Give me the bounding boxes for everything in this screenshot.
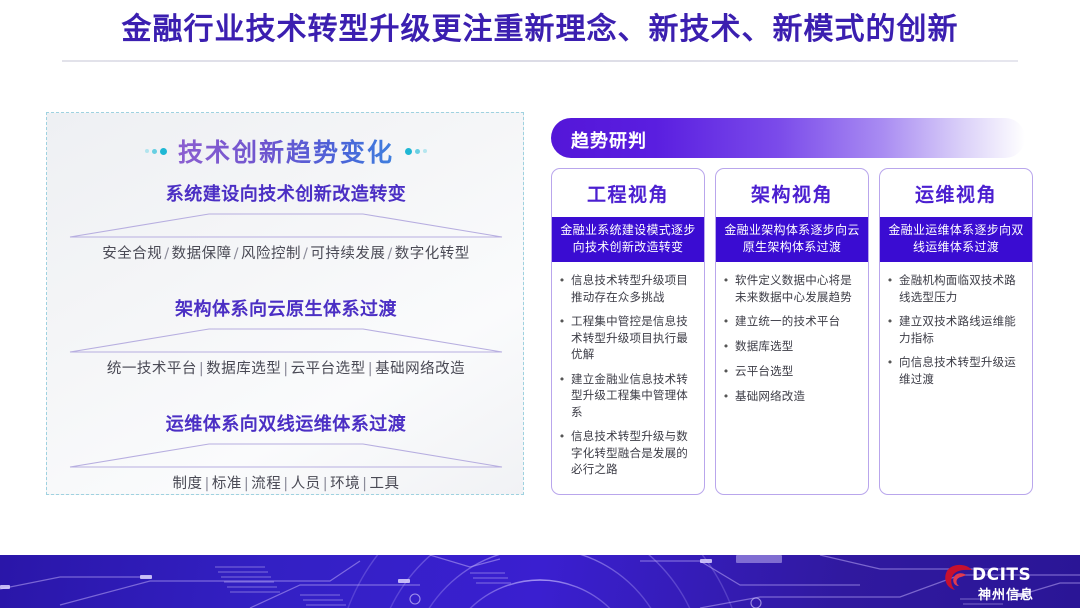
trend-item: 人员 — [291, 476, 321, 492]
trend-item: 统一技术平台 — [107, 361, 197, 377]
item-separator: | — [197, 361, 206, 377]
list-item: • 云平台选型 — [722, 363, 860, 380]
logo-text-en: DCITS — [972, 565, 1031, 585]
card-title: 工程视角 — [552, 169, 704, 217]
bullet-text: 软件定义数据中心将是未来数据中心发展趋势 — [735, 272, 860, 305]
trend-items: 安全合规/数据保障/风险控制/可持续发展/数字化转型 — [47, 244, 525, 264]
bullet-dot-icon: • — [722, 338, 730, 355]
logo-text-cn: 神州信息 — [978, 584, 1034, 603]
trend-heading: 运维体系向双线运维体系过渡 — [47, 413, 525, 437]
trend-item: 数字化转型 — [395, 246, 470, 262]
card-bullet-list: • 软件定义数据中心将是未来数据中心发展趋势 • 建立统一的技术平台 • 数据库… — [716, 262, 868, 421]
trend-group: 架构体系向云原生体系过渡 统一技术平台|数据库选型|云平台选型|基础网络改造 — [47, 298, 525, 379]
item-separator: | — [281, 361, 290, 377]
trend-heading: 架构体系向云原生体系过渡 — [47, 298, 525, 322]
list-item: • 建立双技术路线运维能力指标 — [886, 313, 1024, 346]
bullet-text: 信息技术转型升级与数字化转型融合是发展的必行之路 — [571, 428, 696, 478]
trend-item: 基础网络改造 — [375, 361, 465, 377]
three-dots-icon — [405, 148, 427, 155]
list-item: • 信息技术转型升级与数字化转型融合是发展的必行之路 — [558, 428, 696, 478]
perspective-card[interactable]: 工程视角 金融业系统建设模式逐步向技术创新改造转变 • 信息技术转型升级项目推动… — [551, 168, 705, 495]
bullet-text: 建立双技术路线运维能力指标 — [899, 313, 1024, 346]
trend-item: 环境 — [330, 476, 360, 492]
bullet-dot-icon: • — [722, 363, 730, 380]
perspective-card[interactable]: 架构视角 金融业架构体系逐步向云原生架构体系过渡 • 软件定义数据中心将是未来数… — [715, 168, 869, 495]
trend-item: 流程 — [251, 476, 281, 492]
bullet-text: 建立金融业信息技术转型升级工程集中管理体系 — [571, 371, 696, 421]
trend-change-panel: 技术创新趋势变化 系统建设向技术创新改造转变 安全合规/数据保障/风险控制/可持… — [46, 112, 524, 495]
trend-item: 风险控制 — [241, 246, 301, 262]
trend-judgement-panel: 趋势研判 工程视角 金融业系统建设模式逐步向技术创新改造转变 • 信息技术转型升… — [551, 112, 1033, 495]
card-band: 金融业系统建设模式逐步向技术创新改造转变 — [552, 217, 704, 262]
bullet-dot-icon: • — [886, 354, 894, 387]
title-divider — [62, 60, 1018, 62]
bullet-text: 工程集中管控是信息技术转型升级项目执行最优解 — [571, 313, 696, 363]
list-item: • 向信息技术转型升级运维过渡 — [886, 354, 1024, 387]
list-item: • 数据库选型 — [722, 338, 860, 355]
trapezoid-connector — [69, 213, 503, 239]
trend-item: 云平台选型 — [291, 361, 366, 377]
card-bullet-list: • 信息技术转型升级项目推动存在众多挑战 • 工程集中管控是信息技术转型升级项目… — [552, 262, 704, 494]
bullet-text: 建立统一的技术平台 — [735, 313, 860, 330]
page-header: 金融行业技术转型升级更注重新理念、新技术、新模式的创新 — [0, 0, 1080, 68]
trapezoid-connector — [69, 328, 503, 354]
card-band: 金融业架构体系逐步向云原生架构体系过渡 — [716, 217, 868, 262]
item-separator: / — [162, 246, 171, 262]
trend-heading: 系统建设向技术创新改造转变 — [47, 183, 525, 207]
three-dots-icon — [145, 148, 167, 155]
list-item: • 软件定义数据中心将是未来数据中心发展趋势 — [722, 272, 860, 305]
list-item: • 工程集中管控是信息技术转型升级项目执行最优解 — [558, 313, 696, 363]
item-separator: / — [232, 246, 241, 262]
bullet-dot-icon: • — [558, 428, 566, 478]
trend-items: 制度|标准|流程|人员|环境|工具 — [47, 474, 525, 494]
bullet-text: 数据库选型 — [735, 338, 860, 355]
trend-group: 运维体系向双线运维体系过渡 制度|标准|流程|人员|环境|工具 — [47, 413, 525, 494]
bullet-dot-icon: • — [886, 272, 894, 305]
list-item: • 建立统一的技术平台 — [722, 313, 860, 330]
trend-judgement-banner: 趋势研判 — [551, 118, 1025, 158]
trapezoid-connector — [69, 443, 503, 469]
trend-item: 标准 — [212, 476, 242, 492]
banner-label: 趋势研判 — [571, 127, 647, 153]
card-bullet-list: • 金融机构面临双技术路线选型压力 • 建立双技术路线运维能力指标 • 向信息技… — [880, 262, 1032, 403]
item-separator: | — [366, 361, 375, 377]
card-title: 运维视角 — [880, 169, 1032, 217]
bullet-text: 向信息技术转型升级运维过渡 — [899, 354, 1024, 387]
perspective-card-list: 工程视角 金融业系统建设模式逐步向技术创新改造转变 • 信息技术转型升级项目推动… — [551, 168, 1033, 495]
item-separator: | — [242, 476, 251, 492]
perspective-card[interactable]: 运维视角 金融业运维体系逐步向双线运维体系过渡 • 金融机构面临双技术路线选型压… — [879, 168, 1033, 495]
trend-item: 可持续发展 — [310, 246, 385, 262]
bullet-text: 基础网络改造 — [735, 388, 860, 405]
footer-banner: DCITS 神州信息 — [0, 555, 1080, 608]
trend-item: 工具 — [369, 476, 399, 492]
swirl-logo-icon — [942, 561, 976, 595]
list-item: • 建立金融业信息技术转型升级工程集中管理体系 — [558, 371, 696, 421]
trend-items: 统一技术平台|数据库选型|云平台选型|基础网络改造 — [47, 359, 525, 379]
card-band: 金融业运维体系逐步向双线运维体系过渡 — [880, 217, 1032, 262]
bullet-dot-icon: • — [558, 313, 566, 363]
bullet-text: 信息技术转型升级项目推动存在众多挑战 — [571, 272, 696, 305]
item-separator: | — [281, 476, 290, 492]
list-item: • 信息技术转型升级项目推动存在众多挑战 — [558, 272, 696, 305]
trend-group: 系统建设向技术创新改造转变 安全合规/数据保障/风险控制/可持续发展/数字化转型 — [47, 183, 525, 264]
left-panel-title: 技术创新趋势变化 — [178, 133, 394, 169]
list-item: • 金融机构面临双技术路线选型压力 — [886, 272, 1024, 305]
trend-item: 数据库选型 — [206, 361, 281, 377]
trend-item: 数据保障 — [172, 246, 232, 262]
item-separator: / — [385, 246, 394, 262]
trend-item: 制度 — [173, 476, 203, 492]
company-logo: DCITS 神州信息 — [942, 561, 1070, 603]
bullet-dot-icon: • — [722, 388, 730, 405]
item-separator: | — [203, 476, 212, 492]
bullet-dot-icon: • — [886, 313, 894, 346]
left-panel-title-row: 技术创新趋势变化 — [47, 133, 525, 169]
circuit-pattern-icon — [0, 555, 1080, 608]
list-item: • 基础网络改造 — [722, 388, 860, 405]
bullet-text: 云平台选型 — [735, 363, 860, 380]
bullet-dot-icon: • — [558, 272, 566, 305]
item-separator: | — [321, 476, 330, 492]
bullet-dot-icon: • — [722, 272, 730, 305]
trend-item: 安全合规 — [102, 246, 162, 262]
bullet-dot-icon: • — [558, 371, 566, 421]
card-title: 架构视角 — [716, 169, 868, 217]
bullet-text: 金融机构面临双技术路线选型压力 — [899, 272, 1024, 305]
bullet-dot-icon: • — [722, 313, 730, 330]
page-title: 金融行业技术转型升级更注重新理念、新技术、新模式的创新 — [0, 8, 1080, 52]
item-separator: / — [301, 246, 310, 262]
